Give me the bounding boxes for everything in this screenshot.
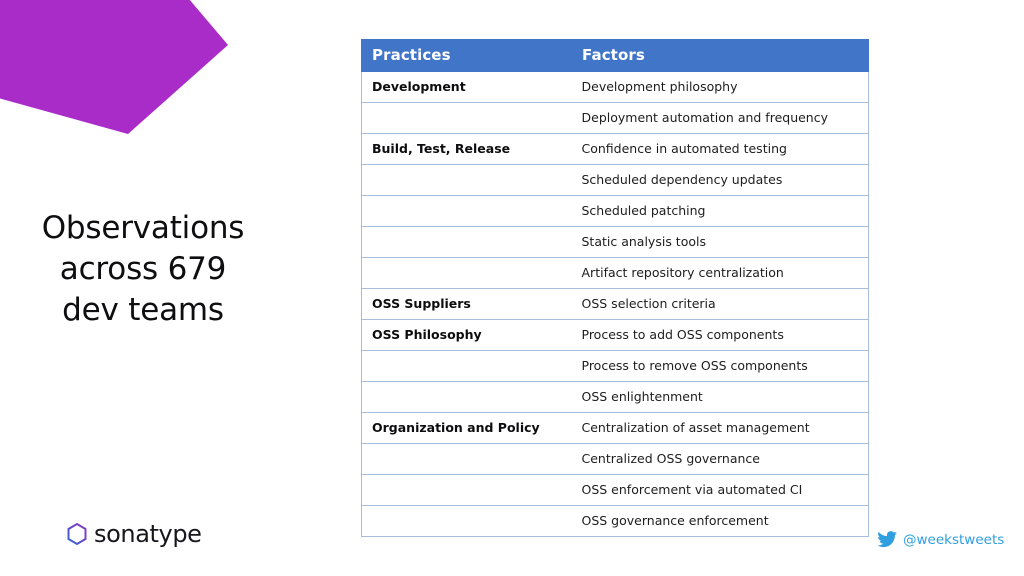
table-row: OSS Suppliers OSS selection criteria bbox=[362, 289, 869, 320]
cell-factor: OSS governance enforcement bbox=[572, 506, 869, 537]
cell-practice bbox=[362, 196, 572, 227]
page-title: Observations across 679 dev teams bbox=[8, 208, 278, 331]
table-row: Artifact repository centralization bbox=[362, 258, 869, 289]
cell-factor: OSS enforcement via automated CI bbox=[572, 475, 869, 506]
cell-practice bbox=[362, 506, 572, 537]
cell-practice bbox=[362, 382, 572, 413]
table-row: Scheduled dependency updates bbox=[362, 165, 869, 196]
cell-factor: Confidence in automated testing bbox=[572, 134, 869, 165]
headline-line-3: dev teams bbox=[8, 290, 278, 331]
cell-practice bbox=[362, 444, 572, 475]
practices-factors-table-wrap: Practices Factors Development Developmen… bbox=[361, 39, 868, 537]
cell-practice: OSS Suppliers bbox=[362, 289, 572, 320]
practices-factors-table: Practices Factors Development Developmen… bbox=[361, 39, 869, 537]
cell-practice bbox=[362, 475, 572, 506]
cell-practice: Development bbox=[362, 72, 572, 103]
twitter-bird-icon bbox=[877, 531, 897, 548]
cell-factor: Process to add OSS components bbox=[572, 320, 869, 351]
twitter-handle-group[interactable]: @weekstweets bbox=[877, 531, 1004, 548]
column-header-factors: Factors bbox=[572, 40, 869, 72]
cell-factor: OSS selection criteria bbox=[572, 289, 869, 320]
sonatype-logo: sonatype bbox=[66, 522, 202, 546]
table-header-row: Practices Factors bbox=[362, 40, 869, 72]
table-row: OSS enforcement via automated CI bbox=[362, 475, 869, 506]
cell-factor: Static analysis tools bbox=[572, 227, 869, 258]
slide-canvas: Observations across 679 dev teams sonaty… bbox=[0, 0, 1024, 576]
table-row: Scheduled patching bbox=[362, 196, 869, 227]
column-header-practices: Practices bbox=[362, 40, 572, 72]
cell-practice bbox=[362, 351, 572, 382]
cell-factor: Process to remove OSS components bbox=[572, 351, 869, 382]
cell-factor: Development philosophy bbox=[572, 72, 869, 103]
cell-practice bbox=[362, 258, 572, 289]
table-header: Practices Factors bbox=[362, 40, 869, 72]
cell-factor: Artifact repository centralization bbox=[572, 258, 869, 289]
table-row: Process to remove OSS components bbox=[362, 351, 869, 382]
cell-practice: Build, Test, Release bbox=[362, 134, 572, 165]
table-row: OSS enlightenment bbox=[362, 382, 869, 413]
purple-hexagon-decoration bbox=[0, 0, 230, 136]
table-row: OSS governance enforcement bbox=[362, 506, 869, 537]
twitter-handle-text: @weekstweets bbox=[903, 532, 1004, 548]
headline-line-1: Observations bbox=[8, 208, 278, 249]
cell-practice bbox=[362, 103, 572, 134]
cell-practice: OSS Philosophy bbox=[362, 320, 572, 351]
cell-practice: Organization and Policy bbox=[362, 413, 572, 444]
cell-factor: Centralization of asset management bbox=[572, 413, 869, 444]
cell-practice bbox=[362, 227, 572, 258]
table-row: Static analysis tools bbox=[362, 227, 869, 258]
table-row: Build, Test, Release Confidence in autom… bbox=[362, 134, 869, 165]
table-row: Deployment automation and frequency bbox=[362, 103, 869, 134]
cell-factor: Scheduled dependency updates bbox=[572, 165, 869, 196]
table-row: OSS Philosophy Process to add OSS compon… bbox=[362, 320, 869, 351]
headline-line-2: across 679 bbox=[8, 249, 278, 290]
cell-factor: OSS enlightenment bbox=[572, 382, 869, 413]
cell-factor: Centralized OSS governance bbox=[572, 444, 869, 475]
cell-factor: Deployment automation and frequency bbox=[572, 103, 869, 134]
table-row: Development Development philosophy bbox=[362, 72, 869, 103]
sonatype-hexagon-icon bbox=[66, 522, 88, 546]
table-row: Organization and Policy Centralization o… bbox=[362, 413, 869, 444]
table-body: Development Development philosophy Deplo… bbox=[362, 72, 869, 537]
table-row: Centralized OSS governance bbox=[362, 444, 869, 475]
cell-practice bbox=[362, 165, 572, 196]
sonatype-wordmark: sonatype bbox=[94, 522, 202, 546]
cell-factor: Scheduled patching bbox=[572, 196, 869, 227]
